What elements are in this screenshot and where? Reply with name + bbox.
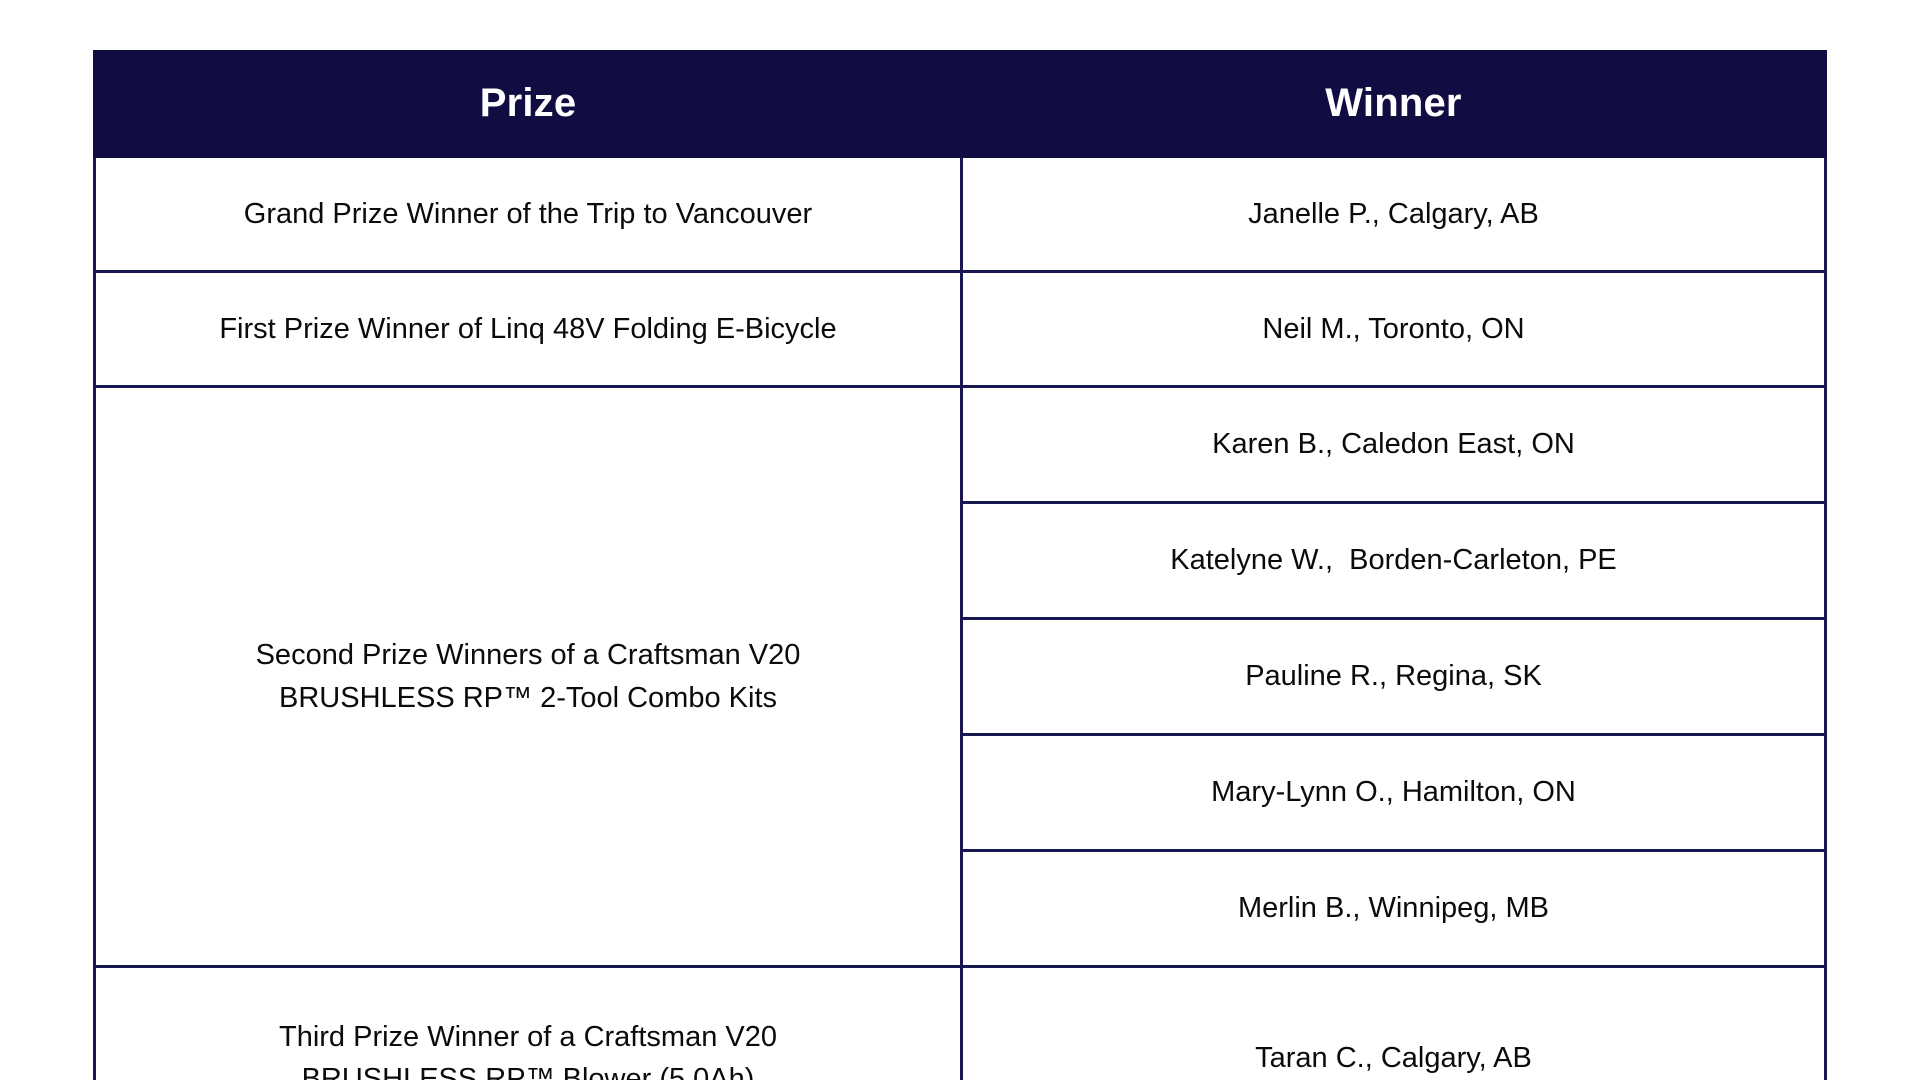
table-header-row: Prize Winner xyxy=(95,52,1826,157)
table-row: Third Prize Winner of a Craftsman V20 BR… xyxy=(95,967,1826,1080)
prize-cell-grand: Grand Prize Winner of the Trip to Vancou… xyxy=(95,157,962,272)
column-header-winner: Winner xyxy=(962,52,1826,157)
page-root: Prize Winner Grand Prize Winner of the T… xyxy=(0,0,1920,1080)
prize-cell-second: Second Prize Winners of a Craftsman V20 … xyxy=(95,387,962,967)
prize-cell-third: Third Prize Winner of a Craftsman V20 BR… xyxy=(95,967,962,1080)
winner-cell: Merlin B., Winnipeg, MB xyxy=(962,851,1826,967)
winner-cell: Karen B., Caledon East, ON xyxy=(962,387,1826,503)
prize-table-container: Prize Winner Grand Prize Winner of the T… xyxy=(93,50,1824,1080)
table-body: Grand Prize Winner of the Trip to Vancou… xyxy=(95,157,1826,1080)
table-row: Second Prize Winners of a Craftsman V20 … xyxy=(95,387,1826,503)
table-row: First Prize Winner of Linq 48V Folding E… xyxy=(95,272,1826,387)
table-row: Grand Prize Winner of the Trip to Vancou… xyxy=(95,157,1826,272)
winner-cell: Taran C., Calgary, AB xyxy=(962,967,1826,1080)
winner-cell: Janelle P., Calgary, AB xyxy=(962,157,1826,272)
prize-winners-table: Prize Winner Grand Prize Winner of the T… xyxy=(93,50,1827,1080)
column-header-prize: Prize xyxy=(95,52,962,157)
prize-cell-first: First Prize Winner of Linq 48V Folding E… xyxy=(95,272,962,387)
winner-cell: Neil M., Toronto, ON xyxy=(962,272,1826,387)
winner-cell: Katelyne W., Borden-Carleton, PE xyxy=(962,503,1826,619)
table-header: Prize Winner xyxy=(95,52,1826,157)
winner-cell: Pauline R., Regina, SK xyxy=(962,619,1826,735)
winner-cell: Mary-Lynn O., Hamilton, ON xyxy=(962,735,1826,851)
